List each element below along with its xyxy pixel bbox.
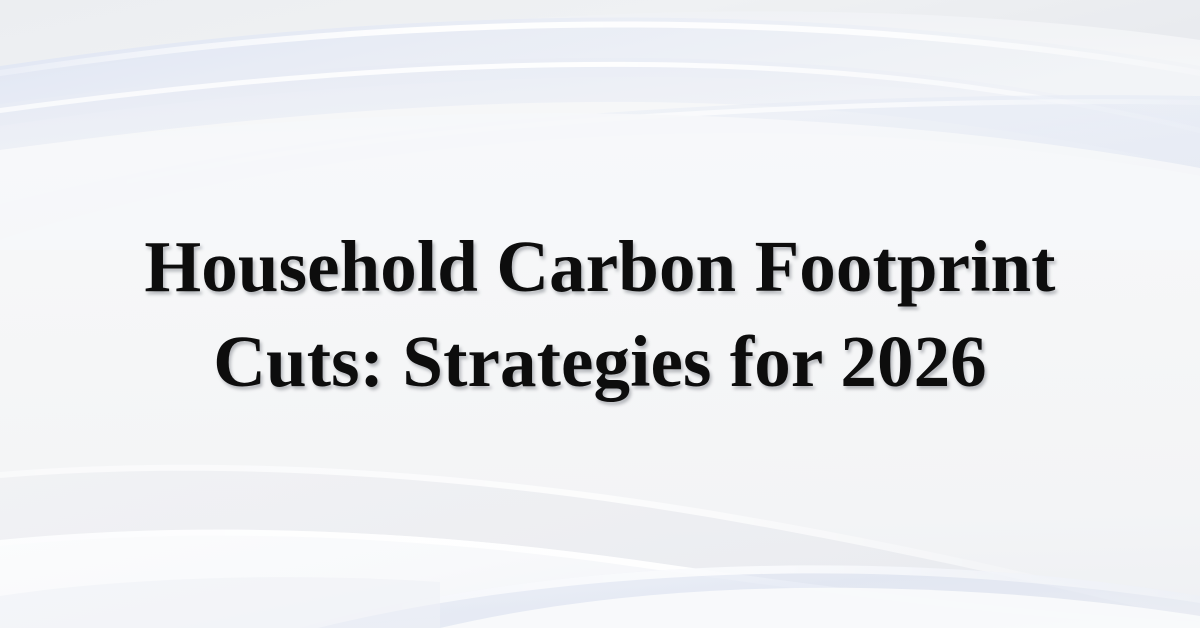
page-title-line-2: Cuts: Strategies for 2026 <box>144 314 1055 409</box>
title-card-banner: Household Carbon Footprint Cuts: Strateg… <box>0 0 1200 628</box>
page-title-line-1: Household Carbon Footprint <box>144 219 1055 314</box>
page-title: Household Carbon Footprint Cuts: Strateg… <box>74 219 1125 409</box>
title-block: Household Carbon Footprint Cuts: Strateg… <box>0 0 1200 628</box>
